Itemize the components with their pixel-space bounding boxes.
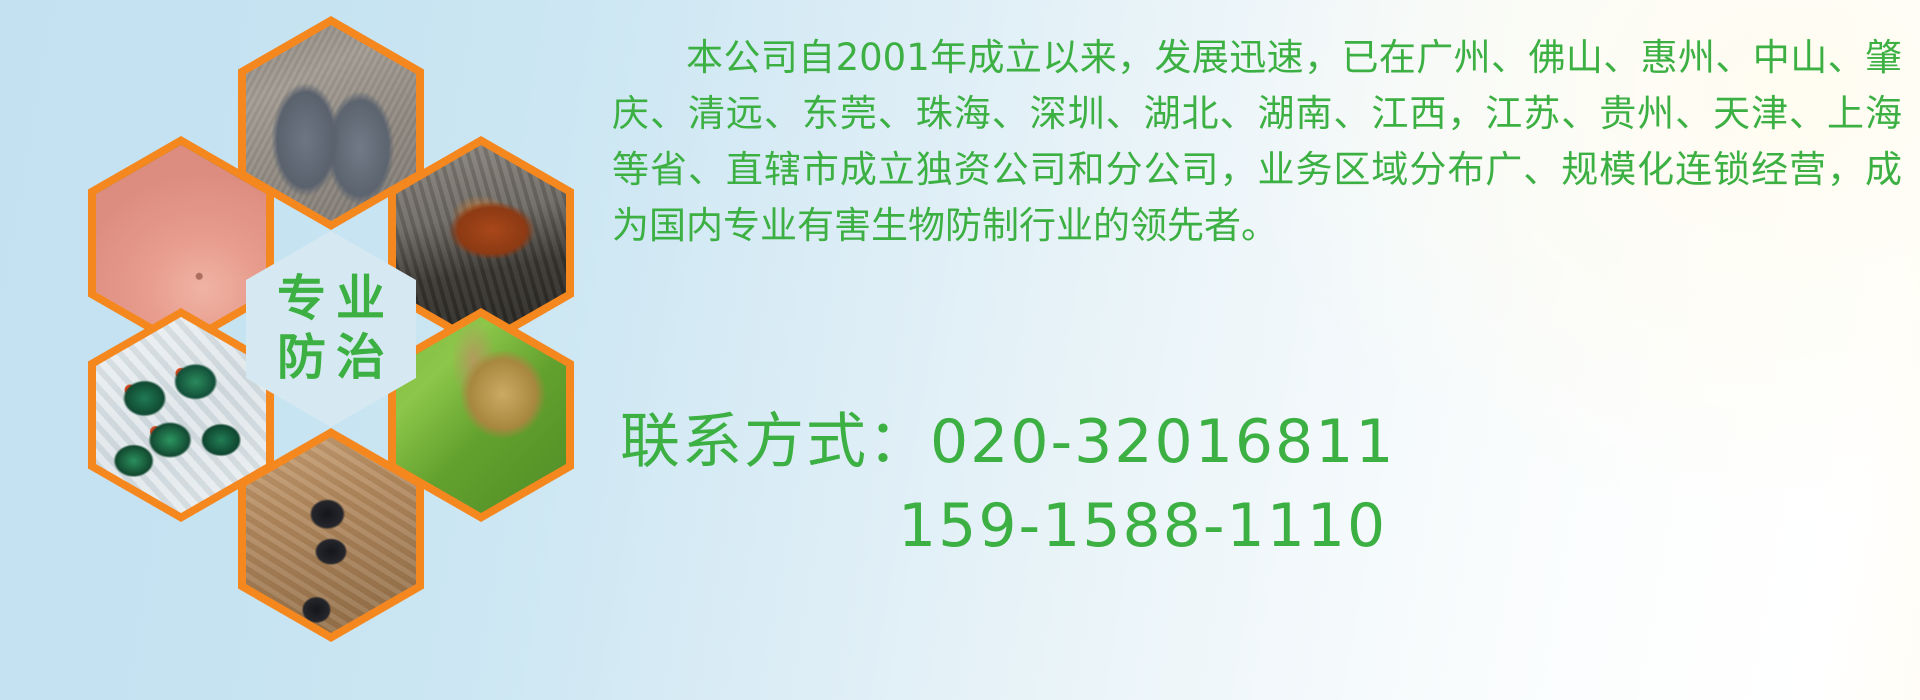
center-title-plate: 专业 防治: [246, 231, 416, 427]
center-title: 专业 防治: [246, 231, 416, 427]
company-description-text: 本公司自2001年成立以来，发展迅速，已在广州、佛山、惠州、中山、肇庆、清远、东…: [612, 30, 1902, 254]
honeycomb-image-cluster: 专业 防治: [80, 8, 590, 568]
company-description-block: 本公司自2001年成立以来，发展迅速，已在广州、佛山、惠州、中山、肇庆、清远、东…: [612, 30, 1902, 254]
center-title-line-2: 防治: [267, 333, 395, 384]
promo-banner: 专业 防治 本公司自2001年成立以来，发展迅速，已在广州、佛山、惠州、中山、肇…: [0, 0, 1920, 700]
center-title-line-1: 专业: [267, 274, 395, 325]
contact-primary-line[interactable]: 联系方式：020-32016811: [620, 400, 1920, 484]
contact-secondary-phone[interactable]: 159-1588-1110: [620, 484, 1920, 568]
contact-block: 联系方式：020-32016811 159-1588-1110: [620, 400, 1920, 568]
